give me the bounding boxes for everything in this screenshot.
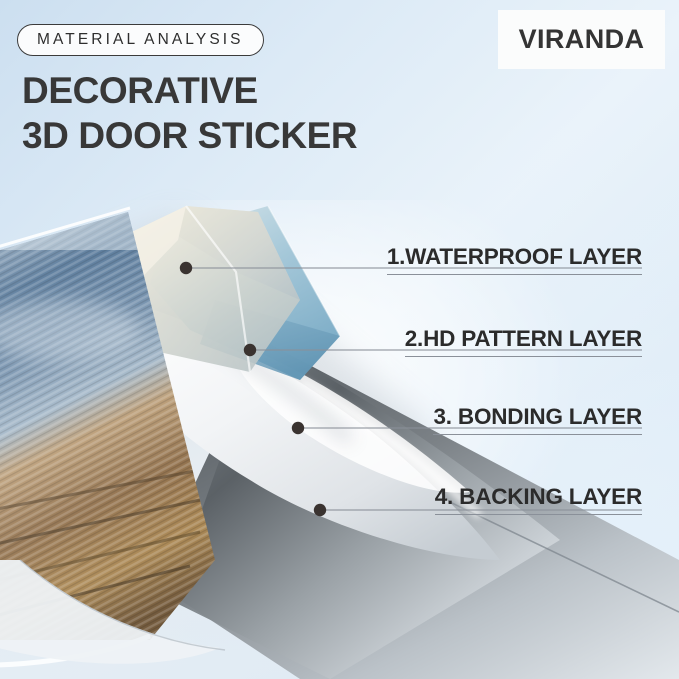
- title-line-2: 3D DOOR STICKER: [22, 113, 357, 158]
- callout-hd-pattern-layer: 2.HD PATTERN LAYER: [405, 326, 642, 357]
- material-analysis-badge: MATERIAL ANALYSIS: [17, 24, 264, 56]
- title-line-1: DECORATIVE: [22, 70, 258, 111]
- brand-logo: VIRANDA: [498, 10, 665, 69]
- callout-waterproof-layer: 1.WATERPROOF LAYER: [387, 244, 642, 275]
- callout-label-2: 2.HD PATTERN LAYER: [405, 326, 642, 357]
- callout-label-4: 4. BACKING LAYER: [435, 484, 642, 515]
- callout-label-3: 3. BONDING LAYER: [433, 404, 642, 435]
- brand-name: VIRANDA: [519, 24, 645, 55]
- poster-canvas: MATERIAL ANALYSIS DECORATIVE 3D DOOR STI…: [0, 0, 679, 679]
- callout-backing-layer: 4. BACKING LAYER: [435, 484, 642, 515]
- callout-bonding-layer: 3. BONDING LAYER: [433, 404, 642, 435]
- badge-label: MATERIAL ANALYSIS: [37, 31, 244, 49]
- page-title: DECORATIVE 3D DOOR STICKER: [22, 68, 357, 158]
- callout-label-1: 1.WATERPROOF LAYER: [387, 244, 642, 275]
